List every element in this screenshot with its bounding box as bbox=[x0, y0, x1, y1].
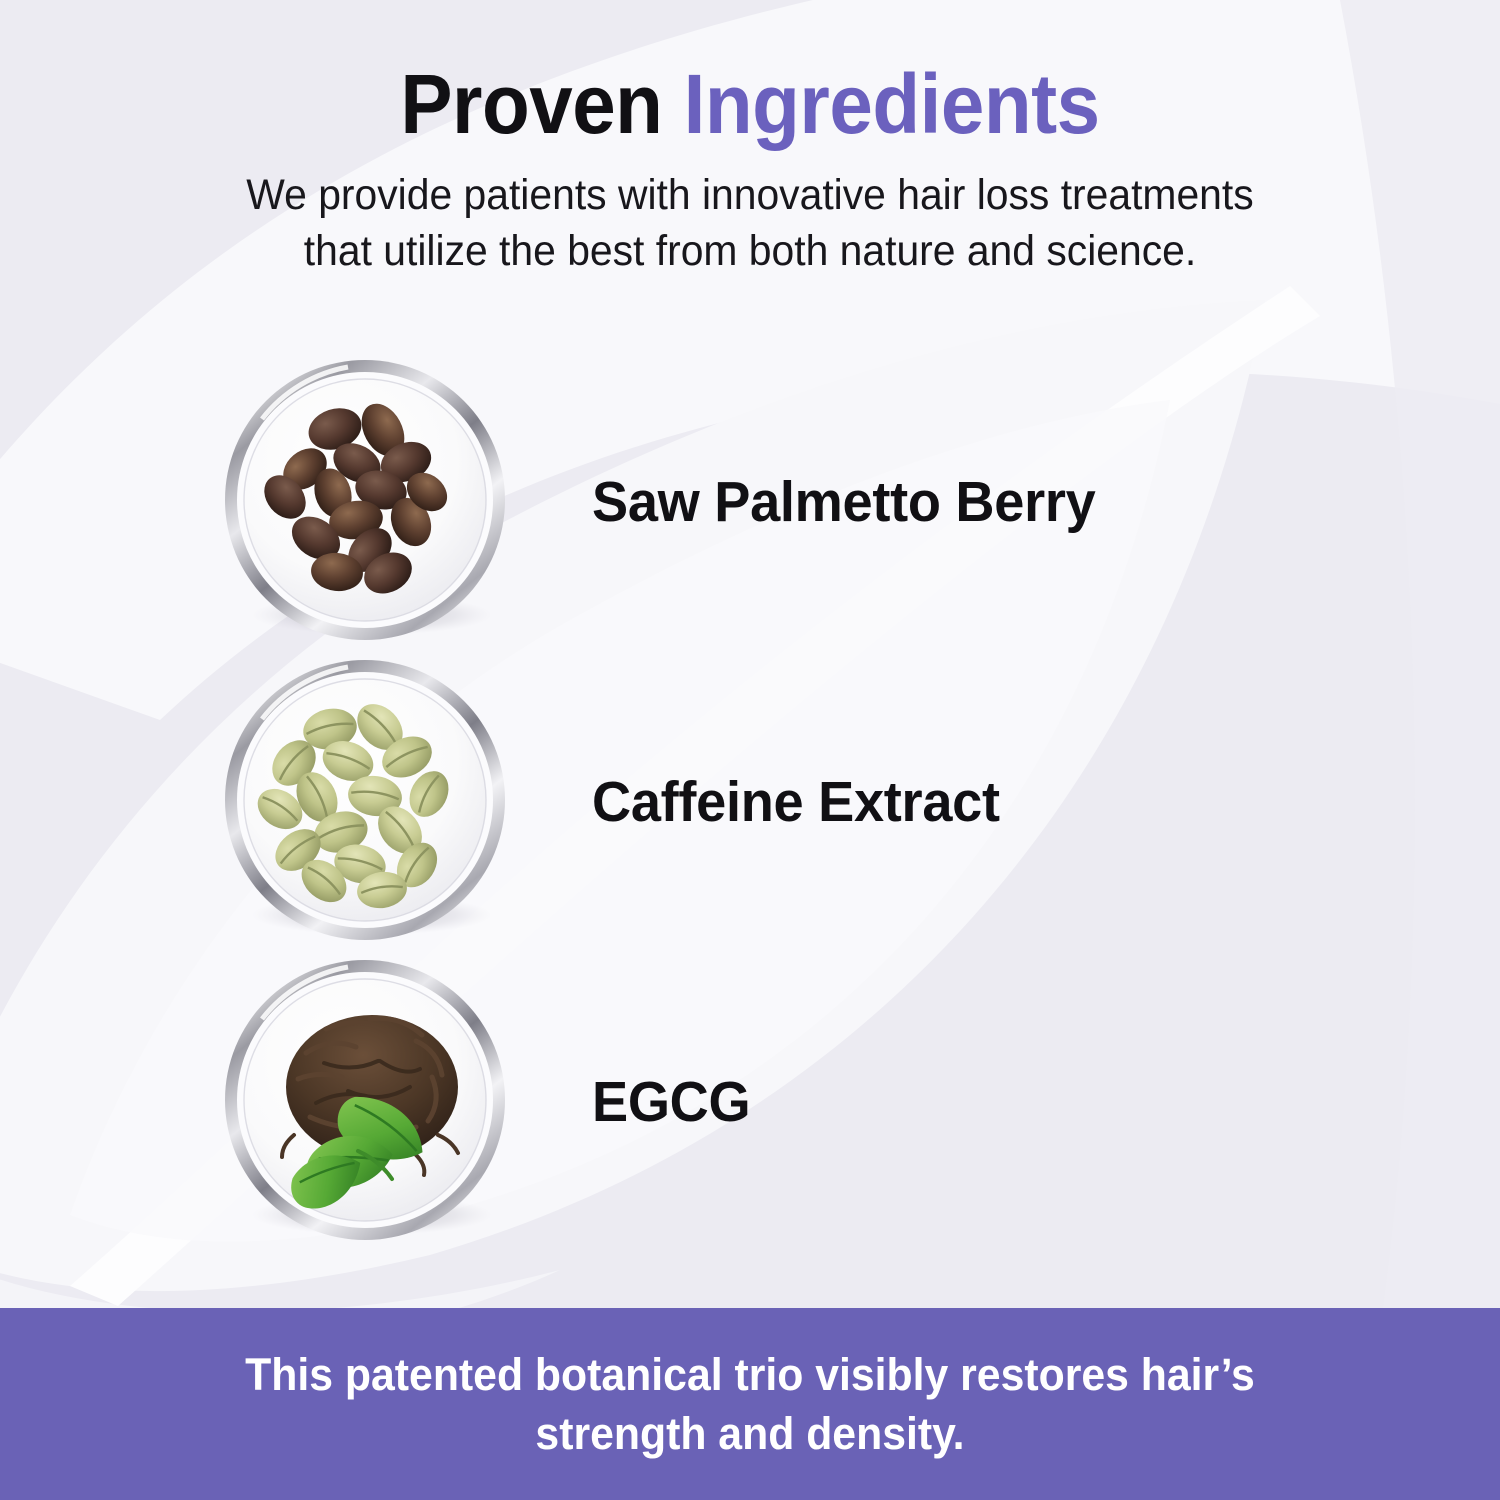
page-subtitle-line-1: We provide patients with innovative hair… bbox=[38, 168, 1463, 224]
ingredient-row-saw-palmetto-berry: Saw Palmetto Berry bbox=[0, 352, 1500, 652]
header: Proven Ingredients We provide patients w… bbox=[0, 0, 1500, 280]
bottom-claim-banner: This patented botanical trio visibly res… bbox=[0, 1308, 1500, 1500]
petri-dish-green-coffee-beans bbox=[220, 657, 510, 947]
ingredient-row-egcg: EGCG bbox=[0, 952, 1500, 1252]
page-subtitle-line-2: that utilize the best from both nature a… bbox=[38, 224, 1463, 280]
ingredient-label-saw-palmetto-berry: Saw Palmetto Berry bbox=[592, 469, 1095, 535]
petri-dish-saw-palmetto-berries bbox=[220, 357, 510, 647]
page-title: Proven Ingredients bbox=[53, 0, 1448, 146]
bottom-claim-line-1: This patented botanical trio visibly res… bbox=[152, 1345, 1349, 1404]
ingredient-list: Saw Palmetto Berry bbox=[0, 352, 1500, 1252]
bottom-claim-line-2: strength and density. bbox=[152, 1404, 1349, 1463]
page-subtitle: We provide patients with innovative hair… bbox=[38, 146, 1463, 280]
bottom-claim-text: This patented botanical trio visibly res… bbox=[152, 1345, 1349, 1464]
page-title-accent: Ingredients bbox=[684, 57, 1100, 151]
ingredient-row-caffeine-extract: Caffeine Extract bbox=[0, 652, 1500, 952]
ingredient-label-egcg: EGCG bbox=[592, 1069, 750, 1135]
ingredient-label-caffeine-extract: Caffeine Extract bbox=[592, 769, 1000, 835]
petri-dish-green-tea-leaves bbox=[220, 957, 510, 1247]
page-title-space bbox=[662, 57, 683, 151]
ingredients-infographic: Proven Ingredients We provide patients w… bbox=[0, 0, 1500, 1500]
page-title-primary: Proven bbox=[400, 57, 662, 151]
